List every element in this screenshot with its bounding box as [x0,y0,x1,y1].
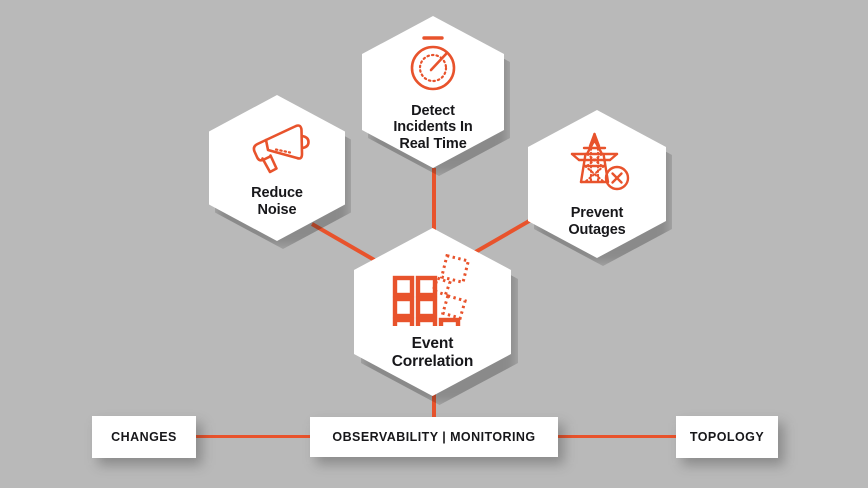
connector-observability-to-topology [556,435,676,438]
bar-observability-monitoring[interactable]: OBSERVABILITY | MONITORING [310,417,558,457]
bar-label-observability-monitoring: OBSERVABILITY | MONITORING [332,430,535,444]
hexagon-label-prevent-outages: Prevent Outages [562,205,631,237]
bar-changes[interactable]: CHANGES [92,416,196,458]
bar-label-changes: CHANGES [111,430,177,444]
connector-changes-to-observability [196,435,314,438]
event-grid-icon [387,254,479,331]
hexagon-label-event-correlation: Event Correlation [386,335,480,370]
bar-label-topology: TOPOLOGY [690,430,764,444]
megaphone-icon [244,118,310,181]
hexagon-label-reduce-noise: Reduce Noise [245,185,309,217]
stopwatch-icon [402,32,464,99]
hexagon-label-detect-incidents: Detect Incidents In Real Time [387,103,478,152]
power-tower-outage-icon [560,130,634,201]
diagram-canvas: Reduce Noise Detect Incidents In Real Ti… [0,0,868,488]
bar-topology[interactable]: TOPOLOGY [676,416,778,458]
